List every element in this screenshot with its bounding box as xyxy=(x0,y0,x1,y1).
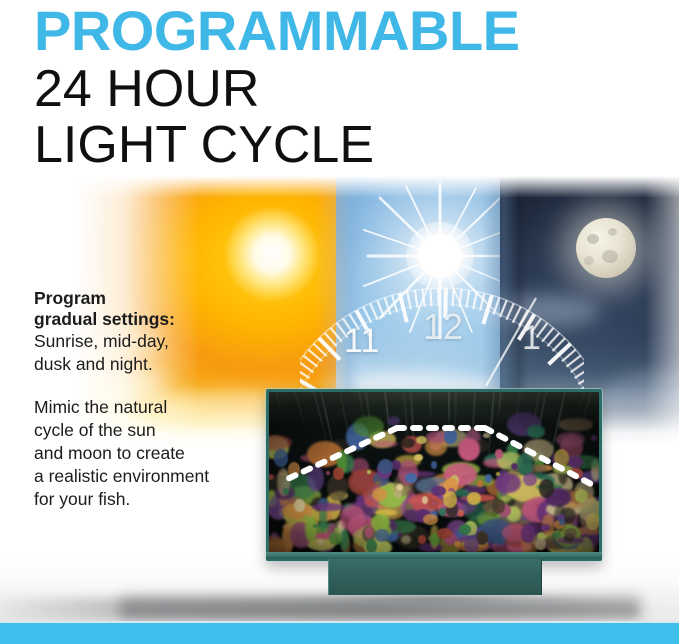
copy-para2-line-4: a realistic environment xyxy=(34,465,266,488)
light-beam-overlay xyxy=(269,392,599,558)
copy-para2-line-5: for your fish. xyxy=(34,488,266,511)
aquarium-tank xyxy=(266,389,602,561)
copy-para2-line-3: and moon to create xyxy=(34,442,266,465)
copy-para2-line-1: Mimic the natural xyxy=(34,396,266,419)
body-copy-block: Program gradual settings: Sunrise, mid-d… xyxy=(34,288,266,511)
tank-frame xyxy=(266,389,602,561)
headline-block: PROGRAMMABLE 24 HOUR LIGHT CYCLE xyxy=(34,0,654,172)
copy-light-line-2: dusk and night. xyxy=(34,353,266,376)
headline-line-24-hour: 24 HOUR xyxy=(34,60,654,116)
copy-para2-line-2: cycle of the sun xyxy=(34,419,266,442)
headline-line-programmable: PROGRAMMABLE xyxy=(34,0,654,60)
headline-line-light-cycle: LIGHT CYCLE xyxy=(34,116,654,172)
copy-paragraph-gap xyxy=(34,376,266,396)
tank-stand xyxy=(328,557,542,595)
poster-root: 11 12 1 PROGRAMMABLE 24 HOUR LIGHT CYCLE… xyxy=(0,0,679,644)
copy-bold-line-2: gradual settings: xyxy=(34,309,266,330)
moon-icon xyxy=(576,218,636,278)
copy-light-line-1: Sunrise, mid-day, xyxy=(34,330,266,353)
copy-bold-line-1: Program xyxy=(34,288,266,309)
tank-base-trim xyxy=(266,552,602,559)
footer-accent-bar xyxy=(0,623,679,644)
footer-hairline xyxy=(0,621,679,623)
